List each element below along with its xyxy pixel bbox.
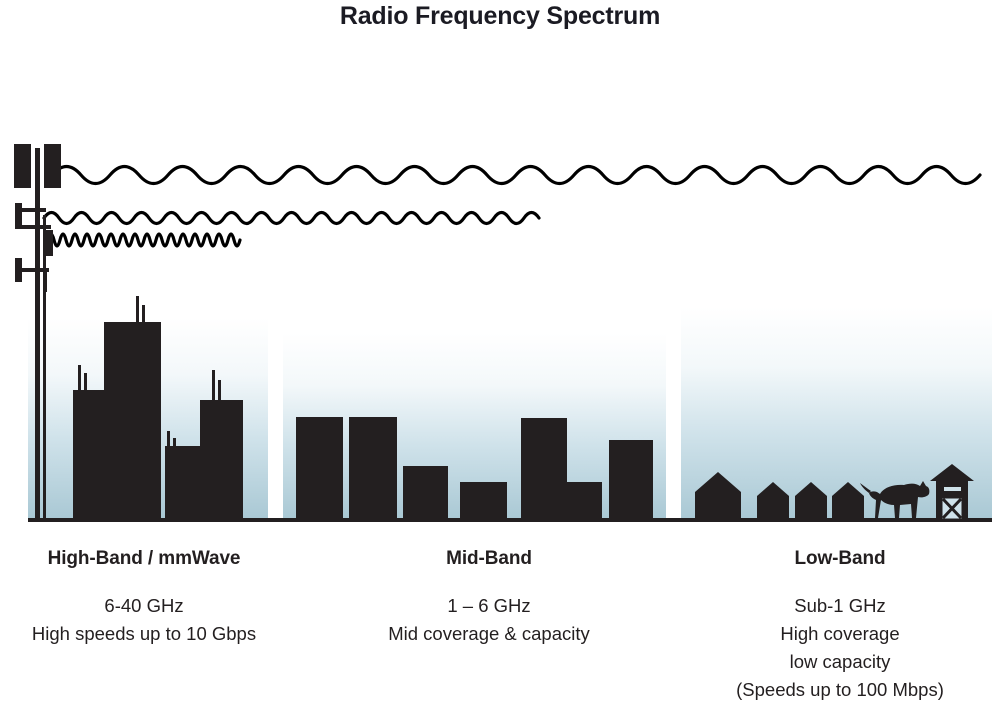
skyscraper-2-spire-a bbox=[136, 296, 139, 323]
midband-building-4 bbox=[460, 482, 507, 520]
tower-antenna-panel-left bbox=[14, 144, 31, 188]
skyscraper-2-spire-b bbox=[142, 305, 145, 323]
skyscraper-3 bbox=[165, 446, 205, 520]
skyscraper-3-spire-b bbox=[173, 438, 176, 448]
skyscraper-1-spire-a bbox=[78, 365, 81, 391]
midband-building-5 bbox=[521, 418, 567, 520]
tower-crossbar-upper bbox=[22, 208, 46, 212]
infographic-canvas: Radio Frequency Spectrum bbox=[0, 0, 1000, 700]
skyscraper-4 bbox=[200, 400, 243, 520]
band-description-mid-band-0: Mid coverage & capacity bbox=[349, 620, 629, 648]
midband-building-2 bbox=[349, 417, 397, 520]
midband-building-7 bbox=[609, 440, 653, 520]
tower-antenna-small-left bbox=[15, 203, 22, 229]
band-frequency-mid-band: 1 – 6 GHz bbox=[349, 592, 629, 620]
tower-leg-stub bbox=[44, 272, 47, 292]
band-label-mid-band: Mid-Band bbox=[349, 548, 629, 570]
tower-antenna-small-right bbox=[46, 230, 53, 256]
band-caption-low-band: Sub-1 GHz High coverage low capacity (Sp… bbox=[700, 592, 980, 704]
band-description-high-band-0: High speeds up to 10 Gbps bbox=[4, 620, 284, 648]
skyscraper-4-spire-b bbox=[218, 380, 221, 401]
tower-crossbar-lower bbox=[22, 268, 49, 272]
skyscraper-2 bbox=[104, 322, 161, 520]
tower-mast bbox=[35, 148, 40, 520]
band-description-low-band-1: low capacity bbox=[700, 648, 980, 676]
skyscraper-1-spire-b bbox=[84, 373, 87, 391]
radio-waves bbox=[44, 167, 980, 247]
tower-mast-secondary bbox=[43, 215, 46, 520]
high-band-wave bbox=[48, 234, 240, 246]
band-frequency-low-band: Sub-1 GHz bbox=[700, 592, 980, 620]
tower-crossbar-mid bbox=[22, 225, 51, 229]
skyscraper-3-spire-a bbox=[167, 431, 170, 447]
midband-building-6 bbox=[567, 482, 602, 520]
band-label-high-band: High-Band / mmWave bbox=[4, 548, 284, 570]
low-band-wave bbox=[52, 167, 980, 184]
band-frequency-high-band: 6-40 GHz bbox=[4, 592, 284, 620]
tower-antenna-panel-right bbox=[44, 144, 61, 188]
midband-building-1 bbox=[296, 417, 343, 520]
band-caption-mid-band: 1 – 6 GHz Mid coverage & capacity bbox=[349, 592, 629, 648]
band-description-low-band-0: High coverage bbox=[700, 620, 980, 648]
mid-band-wave bbox=[44, 213, 539, 224]
band-caption-high-band: 6-40 GHz High speeds up to 10 Gbps bbox=[4, 592, 284, 648]
tower-antenna-small-lower bbox=[15, 258, 22, 282]
band-label-low-band: Low-Band bbox=[700, 548, 980, 570]
barn-hayloft-window bbox=[944, 487, 961, 491]
skyscraper-4-spire-a bbox=[212, 370, 215, 401]
midband-building-3 bbox=[403, 466, 448, 520]
